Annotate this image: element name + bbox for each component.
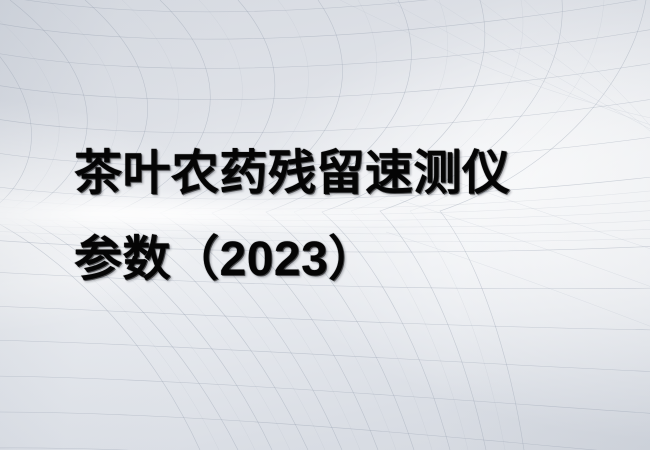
title-line-2: 参数（2023） xyxy=(74,217,594,303)
slide-canvas: 茶叶农药残留速测仪 参数（2023） xyxy=(0,0,650,450)
title-line-1: 茶叶农药残留速测仪 xyxy=(74,131,594,217)
page-title: 茶叶农药残留速测仪 参数（2023） xyxy=(74,131,594,303)
